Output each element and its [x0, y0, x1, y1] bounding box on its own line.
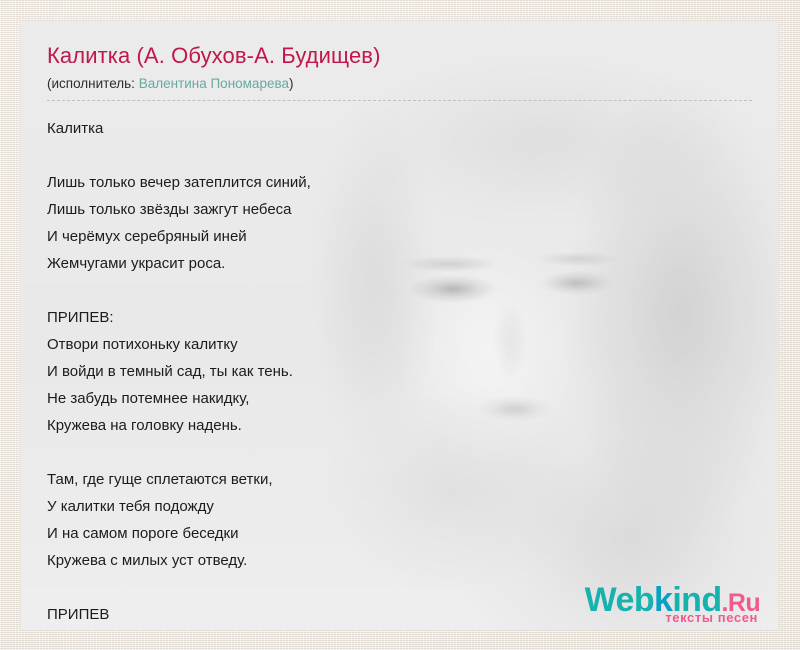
lyrics-page-panel: Калитка (А. Обухов-А. Будищев) (исполнит… — [21, 21, 778, 630]
lyrics-line: Кружева с милых уст отведу. — [47, 547, 752, 574]
lyrics-stanza: Лишь только вечер затеплится синий,Лишь … — [47, 169, 752, 277]
lyrics-line: И войди в темный сад, ты как тень. — [47, 358, 752, 385]
lyrics-line: Лишь только звёзды зажгут небеса — [47, 196, 752, 223]
lyrics-stanza: Калитка — [47, 115, 752, 142]
page-content: Калитка (А. Обухов-А. Будищев) (исполнит… — [21, 21, 778, 628]
performer-link[interactable]: Валентина Пономарева — [139, 76, 289, 91]
performer-line: (исполнитель: Валентина Пономарева) — [47, 75, 752, 92]
performer-prefix-label: (исполнитель: — [47, 76, 139, 91]
lyrics-stanza: ПРИПЕВ:Отвори потихоньку калиткуИ войди … — [47, 304, 752, 439]
lyrics-line: Лишь только вечер затеплится синий, — [47, 169, 752, 196]
lyrics-line: ПРИПЕВ: — [47, 304, 752, 331]
lyrics-line: И черёмух серебряный иней — [47, 223, 752, 250]
lyrics-line: Там, где гуще сплетаются ветки, — [47, 466, 752, 493]
lyrics-line: Кружева на головку надень. — [47, 412, 752, 439]
lyrics-line: Жемчугами украсит роса. — [47, 250, 752, 277]
site-watermark-logo: Webkind.Ru тексты песен — [585, 583, 760, 624]
lyrics-line: Не забудь потемнее накидку, — [47, 385, 752, 412]
lyrics-line: У калитки тебя подожду — [47, 493, 752, 520]
performer-suffix-label: ) — [289, 76, 294, 91]
lyrics-line: Калитка — [47, 115, 752, 142]
lyrics-text: КалиткаЛишь только вечер затеплится сини… — [47, 115, 752, 628]
lyrics-stanza: Там, где гуще сплетаются ветки,У калитки… — [47, 466, 752, 574]
page-title: Калитка (А. Обухов-А. Будищев) — [47, 43, 752, 69]
lyrics-line: Отвори потихоньку калитку — [47, 331, 752, 358]
logo-part-web: Web — [585, 581, 654, 619]
lyrics-line: И на самом пороге беседки — [47, 520, 752, 547]
song-header: Калитка (А. Обухов-А. Будищев) (исполнит… — [47, 43, 752, 101]
